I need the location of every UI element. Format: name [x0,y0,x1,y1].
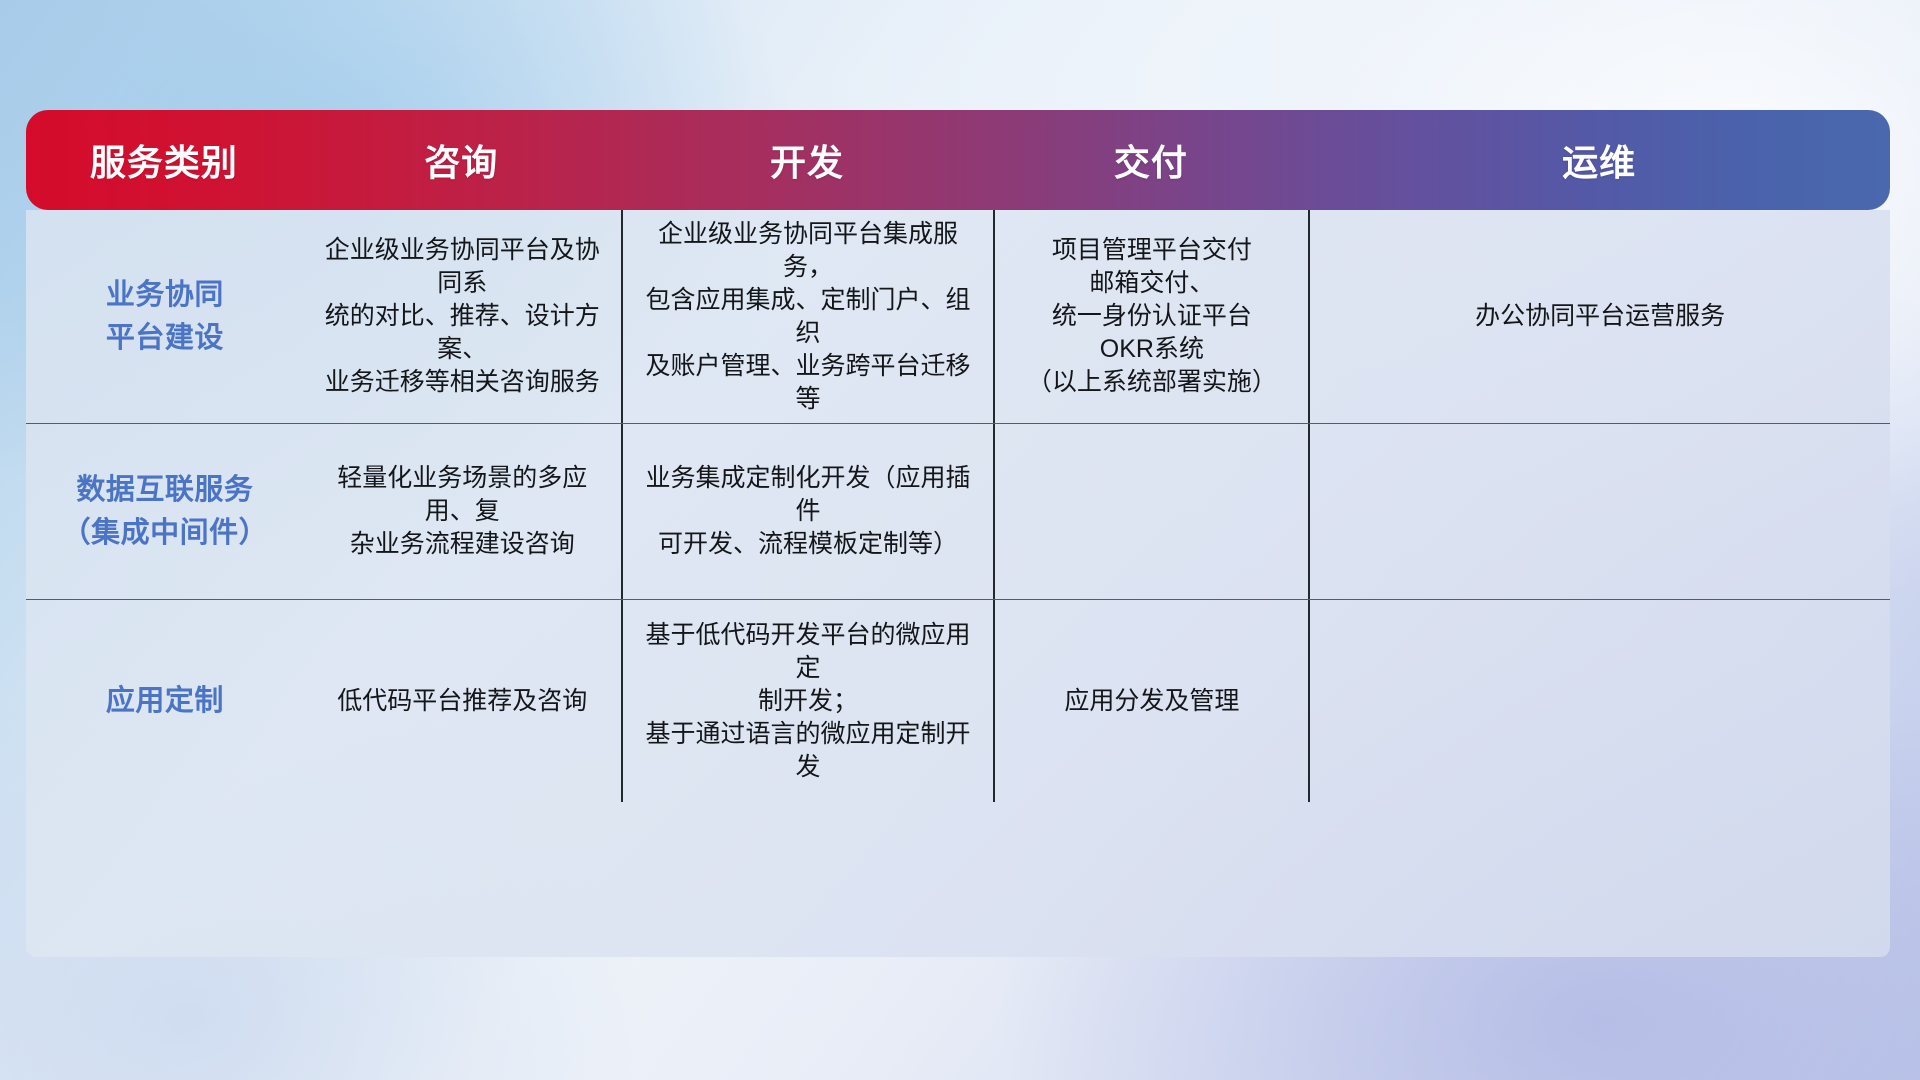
row-label-cell: 数据互联服务 （集成中间件） [26,424,302,599]
cell-text: 办公协同平台运营服务 [1475,300,1725,333]
column-header-delivery: 交付 [993,134,1308,186]
cell-delivery: 应用分发及管理 [993,600,1308,802]
cell-consulting: 企业级业务协同平台及协同系 统的对比、推荐、设计方案、 业务迁移等相关咨询服务 [302,210,621,423]
cell-development: 基于低代码开发平台的微应用定 制开发； 基于通过语言的微应用定制开发 [621,600,994,802]
cell-text: 企业级业务协同平台及协同系 统的对比、推荐、设计方案、 业务迁移等相关咨询服务 [318,234,607,399]
row-label-text: 应用定制 [106,680,224,722]
cell-text: 项目管理平台交付 邮箱交付、 统一身份认证平台 OKR系统 （以上系统部署实施） [1027,234,1277,399]
cell-consulting: 轻量化业务场景的多应用、复 杂业务流程建设咨询 [302,424,621,599]
cell-consulting: 低代码平台推荐及咨询 [302,600,621,802]
table-body: 业务协同 平台建设 企业级业务协同平台及协同系 统的对比、推荐、设计方案、 业务… [26,210,1890,957]
cell-delivery [993,424,1308,599]
table-row: 数据互联服务 （集成中间件） 轻量化业务场景的多应用、复 杂业务流程建设咨询 业… [26,424,1890,599]
cell-text: 企业级业务协同平台集成服务， 包含应用集成、定制门户、组织 及账户管理、业务跨平… [637,218,980,416]
table-row: 应用定制 低代码平台推荐及咨询 基于低代码开发平台的微应用定 制开发； 基于通过… [26,600,1890,802]
service-matrix-table: 服务类别 咨询 开发 交付 运维 业务协同 平台建设 企业级业务协同平台及协同系… [26,110,1890,957]
column-header-consulting: 咨询 [302,134,621,186]
cell-operations: 办公协同平台运营服务 [1308,210,1890,423]
cell-operations [1308,600,1890,802]
cell-delivery: 项目管理平台交付 邮箱交付、 统一身份认证平台 OKR系统 （以上系统部署实施） [993,210,1308,423]
cell-text: 基于低代码开发平台的微应用定 制开发； 基于通过语言的微应用定制开发 [637,619,980,784]
cell-text: 应用分发及管理 [1064,685,1239,718]
column-header-operations: 运维 [1308,134,1890,186]
cell-text: 低代码平台推荐及咨询 [337,685,587,718]
row-label-text: 数据互联服务 （集成中间件） [62,469,269,553]
cell-text: 轻量化业务场景的多应用、复 杂业务流程建设咨询 [318,462,607,561]
row-label-text: 业务协同 平台建设 [106,274,224,358]
cell-operations [1308,424,1890,599]
row-label-cell: 业务协同 平台建设 [26,210,302,423]
column-header-development: 开发 [621,134,994,186]
cell-text: 业务集成定制化开发（应用插件 可开发、流程模板定制等） [637,462,980,561]
row-label-cell: 应用定制 [26,600,302,802]
table-row: 业务协同 平台建设 企业级业务协同平台及协同系 统的对比、推荐、设计方案、 业务… [26,210,1890,423]
cell-development: 企业级业务协同平台集成服务， 包含应用集成、定制门户、组织 及账户管理、业务跨平… [621,210,994,423]
table-header-row: 服务类别 咨询 开发 交付 运维 [26,110,1890,210]
column-header-category: 服务类别 [26,134,302,186]
cell-development: 业务集成定制化开发（应用插件 可开发、流程模板定制等） [621,424,994,599]
table-header-bar: 服务类别 咨询 开发 交付 运维 [26,110,1890,210]
